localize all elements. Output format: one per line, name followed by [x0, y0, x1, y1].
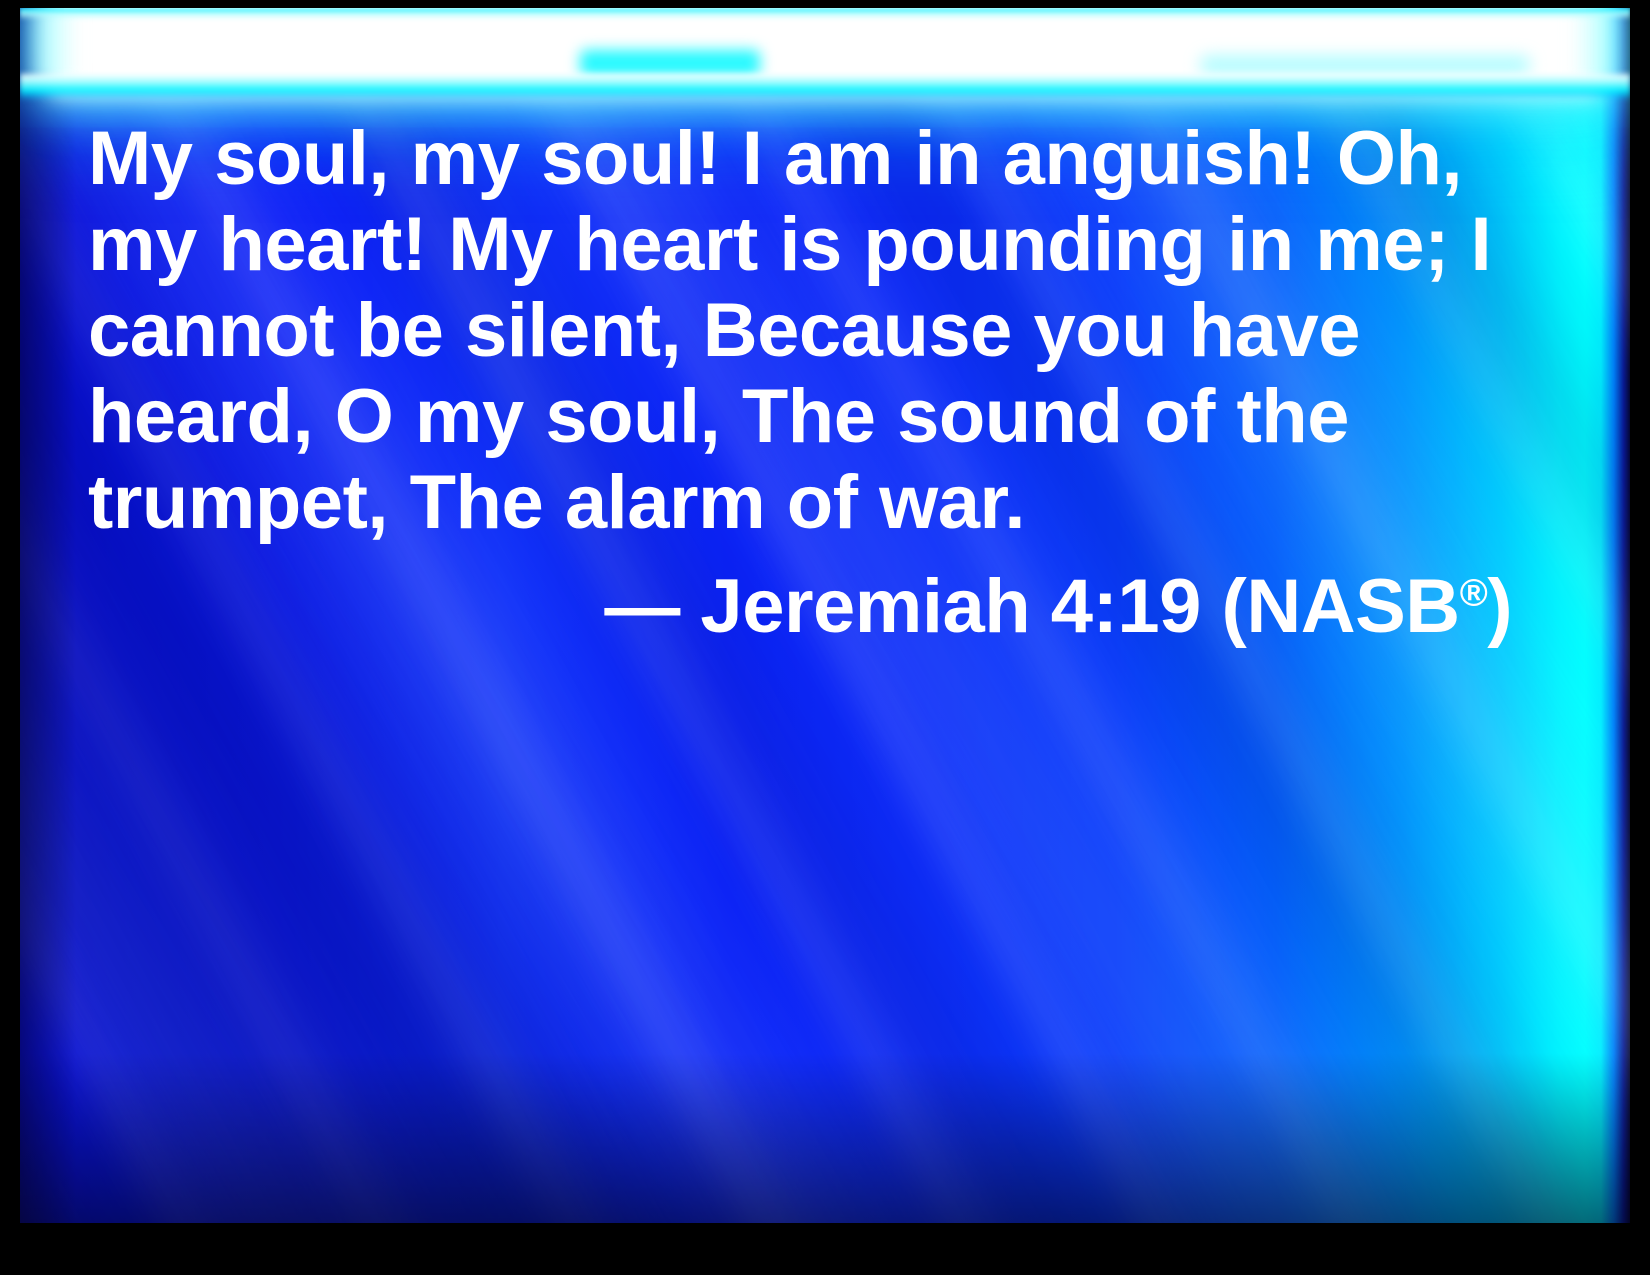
verse-citation: — Jeremiah 4:19 (NASB®): [88, 564, 1518, 650]
glow-highlight-left: [580, 50, 760, 76]
glow-cyan-topline: [20, 8, 1630, 20]
glow-highlight-right: [1200, 56, 1530, 74]
citation-prefix: — Jeremiah 4:19 (NASB: [604, 564, 1459, 649]
verse-text: My soul, my soul! I am in anguish! Oh, m…: [88, 116, 1518, 546]
citation-suffix: ): [1487, 564, 1512, 649]
verse-slide: My soul, my soul! I am in anguish! Oh, m…: [0, 0, 1650, 1275]
registered-trademark-icon: ®: [1460, 573, 1488, 615]
header-glow-band: [20, 8, 1630, 100]
glow-cyan-underline: [20, 74, 1630, 100]
slide-panel: My soul, my soul! I am in anguish! Oh, m…: [20, 8, 1630, 1223]
verse-block: My soul, my soul! I am in anguish! Oh, m…: [88, 116, 1518, 650]
